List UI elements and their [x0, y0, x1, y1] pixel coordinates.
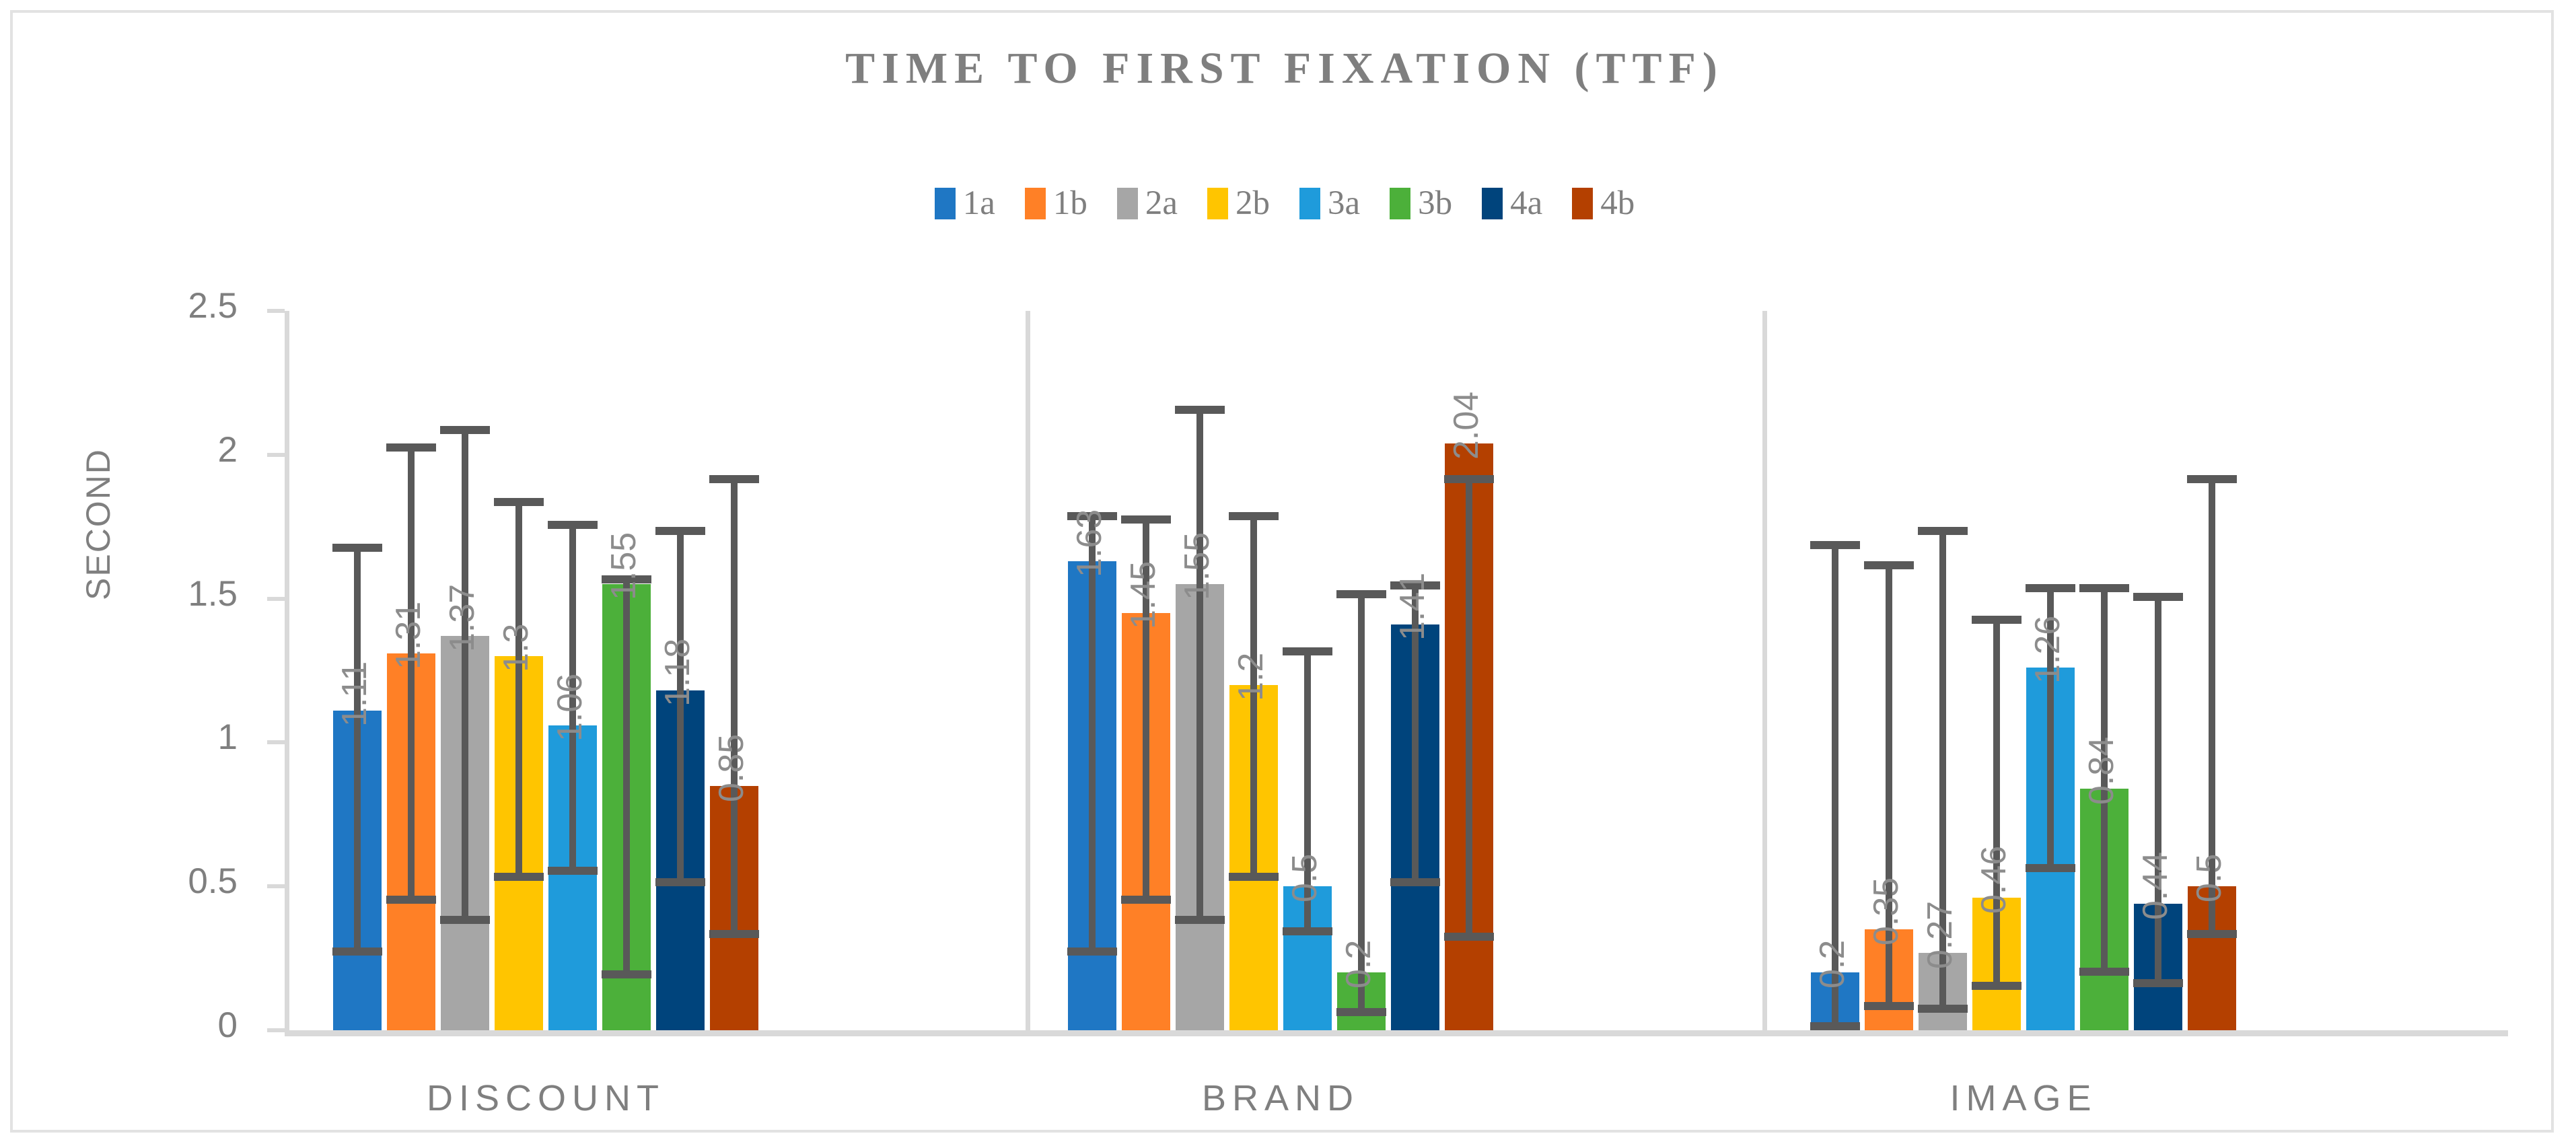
legend-label-1a: 1a [963, 186, 995, 221]
y-axis-tick [267, 1028, 285, 1032]
error-bar-line [731, 475, 738, 938]
error-bar-line [1466, 475, 1472, 941]
y-axis-tick-label: 0 [63, 1007, 238, 1043]
legend-label-3a: 3a [1328, 186, 1360, 221]
error-bar-cap-lower [494, 873, 544, 881]
error-bar-brand-2a [1176, 406, 1224, 924]
legend-label-4b: 4b [1600, 186, 1635, 221]
value-label-image-1a: 0.2 [1815, 940, 1850, 989]
error-bar-line [623, 575, 630, 978]
legend-item-4a[interactable]: 4a [1482, 186, 1542, 221]
value-label-brand-2b: 1.2 [1233, 653, 1268, 701]
error-bar-cap-upper [548, 521, 598, 529]
y-axis-tick-label: 1 [63, 719, 238, 755]
value-label-discount-2a: 1.37 [445, 584, 480, 652]
error-bar-cap-lower [440, 916, 490, 924]
error-bar-brand-4b [1445, 475, 1493, 941]
legend-item-3a[interactable]: 3a [1299, 186, 1360, 221]
error-bar-discount-4b [710, 475, 758, 938]
error-bar-discount-1a [333, 544, 382, 955]
error-bar-line [2155, 593, 2161, 987]
group-separator [1762, 311, 1767, 1030]
chart-frame: TIME TO FIRST FIXATION (TTF) 1a1b2a2b3a3… [10, 10, 2554, 1133]
error-bar-discount-2b [495, 498, 543, 881]
y-axis-tick [267, 740, 285, 744]
value-label-image-4b: 0.5 [2192, 854, 2227, 902]
legend-swatch-4b [1572, 188, 1593, 219]
legend-item-2b[interactable]: 2b [1207, 186, 1270, 221]
value-label-discount-4b: 0.85 [714, 733, 749, 801]
legend-label-2b: 2b [1236, 186, 1270, 221]
value-label-brand-4b: 2.04 [1449, 391, 1484, 459]
legend-item-1b[interactable]: 1b [1025, 186, 1087, 221]
error-bar-cap-upper [1336, 590, 1386, 598]
y-axis-tick-label: 0.5 [63, 863, 238, 899]
error-bar-cap-lower [1229, 873, 1279, 881]
legend-label-4a: 4a [1510, 186, 1542, 221]
error-bar-cap-upper [1864, 561, 1914, 569]
value-label-brand-3a: 0.5 [1287, 854, 1322, 902]
value-label-discount-4a: 1.18 [660, 639, 695, 707]
value-label-discount-3b: 1.55 [606, 532, 641, 600]
error-bar-cap-upper [1229, 512, 1279, 520]
error-bar-cap-upper [655, 527, 705, 535]
category-label-discount: DISCOUNT [306, 1077, 785, 1119]
error-bar-cap-upper [2079, 584, 2129, 592]
y-axis-title: SECOND [79, 448, 118, 600]
y-axis-tick [267, 309, 285, 313]
error-bar-line [515, 498, 522, 881]
group-separator [1026, 311, 1030, 1030]
value-label-image-4a: 0.44 [2138, 852, 2173, 920]
error-bar-cap-lower [332, 947, 382, 956]
legend-swatch-3a [1299, 188, 1320, 219]
error-bar-cap-lower [2026, 864, 2075, 872]
chart-title: TIME TO FIRST FIXATION (TTF) [13, 43, 2556, 94]
error-bar-cap-lower [1972, 982, 2022, 990]
value-label-brand-3b: 0.2 [1341, 940, 1376, 989]
error-bar-cap-lower [1175, 916, 1225, 924]
x-axis-baseline [285, 1030, 2508, 1036]
y-axis-line [285, 311, 289, 1030]
error-bar-cap-lower [602, 970, 651, 978]
value-label-image-1b: 0.35 [1869, 878, 1904, 945]
error-bar-line [1089, 512, 1096, 956]
error-bar-line [408, 443, 415, 904]
value-label-discount-1a: 1.11 [337, 661, 372, 727]
value-label-brand-4a: 1.41 [1395, 573, 1430, 641]
error-bar-cap-lower [1121, 896, 1171, 904]
error-bar-line [354, 544, 361, 955]
legend-label-3b: 3b [1418, 186, 1452, 221]
legend-label-2a: 2a [1145, 186, 1178, 221]
error-bar-cap-upper [1121, 515, 1171, 524]
chart-legend: 1a1b2a2b3a3b4a4b [13, 186, 2556, 221]
value-label-image-2a: 0.27 [1923, 900, 1958, 968]
legend-swatch-1a [935, 188, 956, 219]
error-bar-cap-lower [386, 896, 436, 904]
legend-swatch-2a [1117, 188, 1138, 219]
legend-label-1b: 1b [1053, 186, 1087, 221]
legend-item-1a[interactable]: 1a [935, 186, 995, 221]
error-bar-cap-lower [1067, 947, 1117, 956]
error-bar-cap-lower [2133, 979, 2183, 987]
legend-item-3b[interactable]: 3b [1390, 186, 1452, 221]
value-label-image-3a: 1.26 [2030, 616, 2065, 684]
value-label-discount-3a: 1.06 [552, 674, 587, 742]
value-label-discount-1b: 1.31 [391, 602, 426, 670]
value-label-image-3b: 0.84 [2084, 737, 2119, 805]
error-bar-cap-upper [440, 426, 490, 434]
error-bar-discount-3b [602, 575, 651, 978]
category-label-image: IMAGE [1784, 1077, 2263, 1119]
error-bar-cap-upper [709, 475, 759, 483]
error-bar-cap-lower [2187, 930, 2237, 938]
value-label-brand-2a: 1.55 [1180, 532, 1215, 600]
legend-swatch-2b [1207, 188, 1228, 219]
error-bar-cap-upper [2187, 475, 2237, 483]
error-bar-line [1993, 616, 2000, 990]
value-label-brand-1b: 1.45 [1126, 561, 1161, 629]
error-bar-image-2b [1972, 616, 2021, 990]
error-bar-cap-lower [1864, 1002, 1914, 1010]
legend-item-4b[interactable]: 4b [1572, 186, 1635, 221]
error-bar-cap-lower [2079, 968, 2129, 976]
value-label-brand-1a: 1.63 [1072, 509, 1107, 577]
y-axis-tick-label: 2.5 [63, 288, 238, 324]
error-bar-cap-upper [1283, 647, 1332, 655]
legend-swatch-1b [1025, 188, 1046, 219]
error-bar-cap-upper [332, 544, 382, 552]
error-bar-cap-upper [494, 498, 544, 506]
error-bar-cap-upper [386, 443, 436, 452]
error-bar-cap-lower [655, 878, 705, 886]
error-bar-cap-lower [1444, 933, 1494, 941]
y-axis-tick [267, 597, 285, 601]
category-label-brand: BRAND [1041, 1077, 1520, 1119]
error-bar-discount-2a [441, 426, 489, 924]
error-bar-cap-lower [1336, 1008, 1386, 1016]
legend-swatch-3b [1390, 188, 1410, 219]
error-bar-image-4a [2134, 593, 2182, 987]
error-bar-line [1196, 406, 1203, 924]
error-bar-cap-upper [2133, 593, 2183, 601]
error-bar-cap-upper [1810, 541, 1860, 549]
error-bar-discount-1b [387, 443, 435, 904]
legend-swatch-4a [1482, 188, 1503, 219]
error-bar-cap-upper [1972, 616, 2022, 624]
y-axis-tick [267, 453, 285, 457]
error-bar-cap-lower [1918, 1005, 1968, 1013]
error-bar-line [462, 426, 468, 924]
error-bar-cap-lower [1810, 1022, 1860, 1030]
error-bar-brand-1a [1068, 512, 1116, 956]
error-bar-cap-upper [2026, 584, 2075, 592]
error-bar-cap-upper [1918, 527, 1968, 535]
value-label-discount-2b: 1.3 [499, 624, 534, 672]
legend-item-2a[interactable]: 2a [1117, 186, 1178, 221]
error-bar-cap-upper [1444, 475, 1494, 483]
error-bar-cap-lower [1390, 878, 1440, 886]
value-label-image-2b: 0.46 [1976, 846, 2011, 914]
y-axis-tick [267, 884, 285, 888]
error-bar-cap-lower [709, 930, 759, 938]
error-bar-cap-lower [548, 867, 598, 875]
plot-area: 00.511.522.5 SECOND 1.111.311.371.31.061… [285, 311, 2508, 1030]
error-bar-cap-lower [1283, 927, 1332, 935]
error-bar-cap-upper [1175, 406, 1225, 414]
